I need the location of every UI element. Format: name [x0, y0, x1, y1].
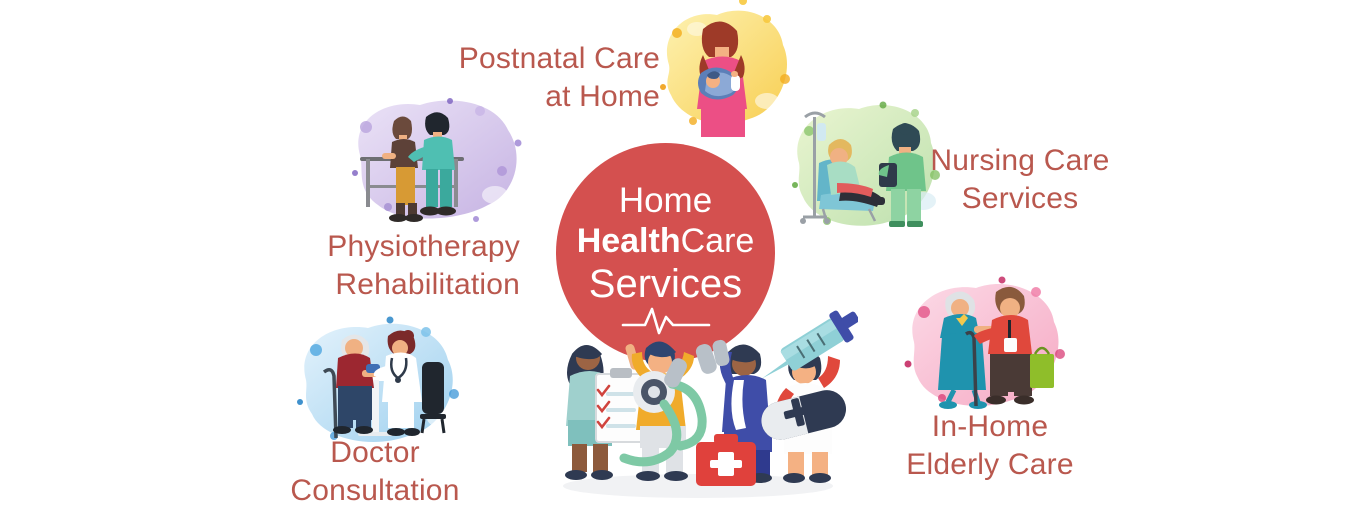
label-postnatal-care-at-home: Postnatal Care at Home — [420, 40, 660, 116]
illustration-in-home-elderly-care — [890, 268, 1090, 428]
hub-line-healthcare: HealthCare — [556, 221, 775, 261]
hub-line-home: Home — [556, 181, 775, 221]
label-doctor-consultation: Doctor Consultation — [260, 434, 490, 510]
hub-word-health: Health — [577, 222, 681, 260]
label-in-home-elderly-care: In-Home Elderly Care — [880, 408, 1100, 484]
illustration-medical-team-scene — [548, 300, 858, 500]
hub-text-block: Home HealthCare Services — [556, 181, 775, 307]
infographic-canvas: Physiotherapy Rehabilitation — [0, 0, 1366, 500]
hub-word-care: Care — [681, 222, 755, 260]
label-physiotherapy-rehabilitation: Physiotherapy Rehabilitation — [260, 228, 520, 304]
label-nursing-care-services: Nursing Care Services — [905, 142, 1135, 218]
